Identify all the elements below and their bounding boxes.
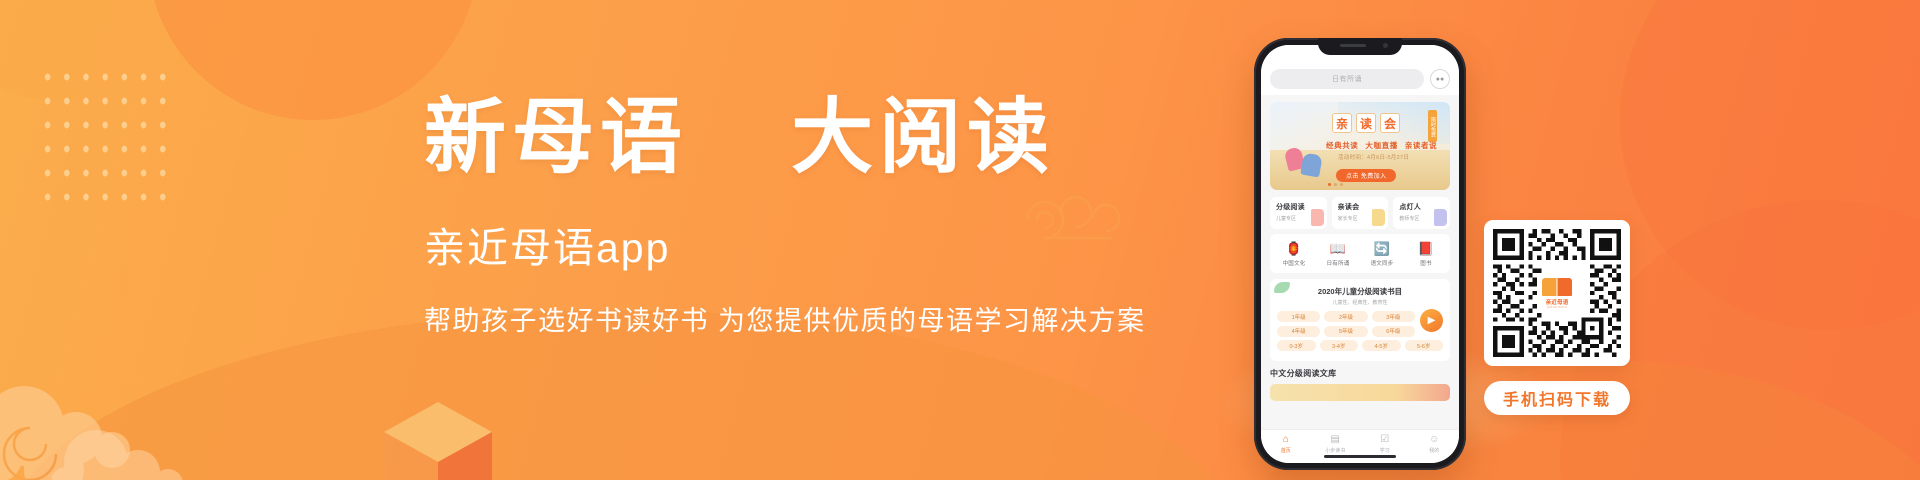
open-book-icon	[1542, 278, 1572, 296]
quick-item-label: 日有所诵	[1316, 259, 1360, 267]
daily-recite-icon: 📖	[1316, 241, 1360, 256]
brand-pinyin: QINJIN MUYU	[1547, 306, 1567, 309]
library-section: 中文分级阅读文库	[1270, 368, 1450, 401]
decor-cube	[380, 398, 496, 480]
phone-speaker	[1340, 44, 1366, 47]
books-icon: 📕	[1404, 241, 1448, 256]
carousel-dots[interactable]	[1328, 183, 1343, 186]
quick-item-sync-lesson[interactable]: 🔄 语文同步	[1360, 241, 1404, 267]
category-card-parent-club[interactable]: 亲读会 家长专区	[1332, 197, 1389, 229]
grade-chip[interactable]: 5年级	[1324, 326, 1367, 337]
decor-blob-top-left-small	[0, 0, 180, 100]
grade-chip[interactable]: 3年级	[1372, 311, 1415, 322]
play-video-icon[interactable]: ▶	[1420, 309, 1443, 332]
grade-chip-row-2: 4年级 5年级 6年级	[1277, 326, 1443, 337]
library-title: 中文分级阅读文库	[1270, 368, 1450, 379]
hero-child-right	[1300, 153, 1323, 178]
hero-title: 亲 读 会	[1332, 113, 1400, 133]
hero-features: 经典共读 大咖直播 亲读者说	[1326, 140, 1437, 151]
hero-feature: 大咖直播	[1365, 140, 1397, 151]
tab-label: 小步读书	[1311, 447, 1361, 454]
grade-chip[interactable]: 6年级	[1372, 326, 1415, 337]
quick-item-label: 中国文化	[1272, 259, 1316, 267]
quick-item-books[interactable]: 📕 图书	[1404, 241, 1448, 267]
profile-icon: ☺	[1410, 434, 1460, 445]
phone-notch	[1318, 38, 1402, 55]
tagline: 帮助孩子选好书读好书 为您提供优质的母语学习解决方案	[424, 305, 1274, 337]
hero-title-char: 会	[1380, 113, 1400, 133]
carousel-dot[interactable]	[1334, 183, 1337, 186]
age-chip-row: 0-3岁 3-4岁 4-5岁 5-6岁	[1277, 340, 1443, 351]
china-culture-icon: 🏮	[1272, 241, 1316, 256]
hero-title-char: 亲	[1332, 113, 1352, 133]
booklist-chips: 1年级 2年级 3年级 4年级 5年级 6年级 0-3岁 3-4岁 4-5岁 5…	[1277, 311, 1443, 351]
book-icon	[1372, 209, 1385, 226]
search-input[interactable]: 日有所诵	[1270, 69, 1424, 89]
category-cards: 分级阅读 儿童专区 亲读会 家长专区 点灯人 教师专区	[1270, 197, 1450, 229]
age-chip[interactable]: 0-3岁	[1277, 340, 1316, 351]
decor-cloud-mid-left	[52, 406, 202, 480]
grade-chip[interactable]: 4年级	[1277, 326, 1320, 337]
hero-date-text: 活动时间：4月6日-5月27日	[1338, 153, 1409, 161]
app-name-subtitle: 亲近母语app	[424, 226, 1274, 271]
tab-home[interactable]: ⌂ 首页	[1261, 434, 1311, 454]
banner-copy: 新母语 大阅读 亲近母语app 帮助孩子选好书读好书 为您提供优质的母语学习解决…	[424, 96, 1274, 337]
tab-profile[interactable]: ☺ 我的	[1410, 434, 1460, 454]
home-indicator	[1324, 455, 1396, 458]
hero-title-char: 读	[1356, 113, 1376, 133]
tab-reading[interactable]: ▤ 小步读书	[1311, 434, 1361, 454]
headline-part-2: 大阅读	[791, 89, 1055, 185]
quick-item-label: 语文同步	[1360, 259, 1404, 267]
qr-download-block: 亲近母语 QINJIN MUYU 手机扫码下载	[1484, 220, 1630, 415]
book-icon	[1434, 209, 1447, 226]
qr-code-card: 亲近母语 QINJIN MUYU	[1484, 220, 1630, 366]
hero-ribbon-badge: 限时免费	[1428, 110, 1437, 142]
quick-item-label: 图书	[1404, 259, 1448, 267]
home-icon: ⌂	[1261, 434, 1311, 445]
booklist-section: 2020年儿童分级阅读书目 儿童性、经典性、教育性 1年级 2年级 3年级 4年…	[1270, 279, 1450, 361]
grade-chip-row-1: 1年级 2年级 3年级	[1277, 311, 1443, 322]
quick-item-daily-recite[interactable]: 📖 日有所诵	[1316, 241, 1360, 267]
decor-blob-right	[1620, 0, 1920, 330]
category-card-teacher[interactable]: 点灯人 教师专区	[1393, 197, 1450, 229]
book-icon	[1311, 209, 1324, 226]
search-row: 日有所诵 ●●	[1270, 69, 1450, 89]
grade-chip[interactable]: 2年级	[1324, 311, 1367, 322]
phone-screen: 日有所诵 ●● 亲 读 会 限时免费 经典共读 大咖直播 亲读者说	[1261, 45, 1459, 463]
decor-dot-grid	[36, 63, 172, 213]
age-chip[interactable]: 4-5岁	[1362, 340, 1401, 351]
hero-banner-card[interactable]: 亲 读 会 限时免费 经典共读 大咖直播 亲读者说 活动时间：4月6日-5月27…	[1270, 102, 1450, 190]
download-button[interactable]: 手机扫码下载	[1484, 381, 1630, 415]
quick-item-china-culture[interactable]: 🏮 中国文化	[1272, 241, 1316, 267]
carousel-dot[interactable]	[1328, 183, 1331, 186]
booklist-subtitle: 儿童性、经典性、教育性	[1277, 299, 1443, 306]
brand-logo: 亲近母语 QINJIN MUYU	[1537, 273, 1577, 313]
grade-chip[interactable]: 1年级	[1277, 311, 1320, 322]
headline-part-1: 新母语	[424, 89, 688, 185]
carousel-dot[interactable]	[1340, 183, 1343, 186]
sync-lesson-icon: 🔄	[1360, 241, 1404, 256]
hero-feature: 亲读者说	[1405, 140, 1437, 151]
tab-label: 学习	[1360, 447, 1410, 454]
category-card-graded-reading[interactable]: 分级阅读 儿童专区	[1270, 197, 1327, 229]
page-title: 新母语 大阅读	[424, 96, 1274, 178]
hero-feature: 经典共读	[1326, 140, 1358, 151]
tab-label: 我的	[1410, 447, 1460, 454]
booklist-title: 2020年儿童分级阅读书目	[1277, 286, 1443, 297]
tab-label: 首页	[1261, 447, 1311, 454]
age-chip[interactable]: 5-6岁	[1405, 340, 1444, 351]
study-icon: ☑	[1360, 434, 1410, 445]
phone-mockup: 日有所诵 ●● 亲 读 会 限时免费 经典共读 大咖直播 亲读者说	[1254, 38, 1466, 470]
hero-cta-button[interactable]: 点击 免费加入	[1336, 169, 1396, 182]
decor-cloud-bottom-left	[0, 366, 164, 480]
library-banner[interactable]	[1270, 384, 1450, 401]
age-chip[interactable]: 3-4岁	[1320, 340, 1359, 351]
reading-icon: ▤	[1311, 434, 1361, 445]
phone-camera	[1383, 43, 1388, 48]
tab-study[interactable]: ☑ 学习	[1360, 434, 1410, 454]
user-avatar-icon[interactable]: ●●	[1430, 69, 1450, 89]
brand-name: 亲近母语	[1546, 298, 1569, 306]
promo-banner: 新母语 大阅读 亲近母语app 帮助孩子选好书读好书 为您提供优质的母语学习解决…	[0, 0, 1920, 480]
quick-icon-row: 🏮 中国文化 📖 日有所诵 🔄 语文同步 📕 图书	[1270, 234, 1450, 273]
